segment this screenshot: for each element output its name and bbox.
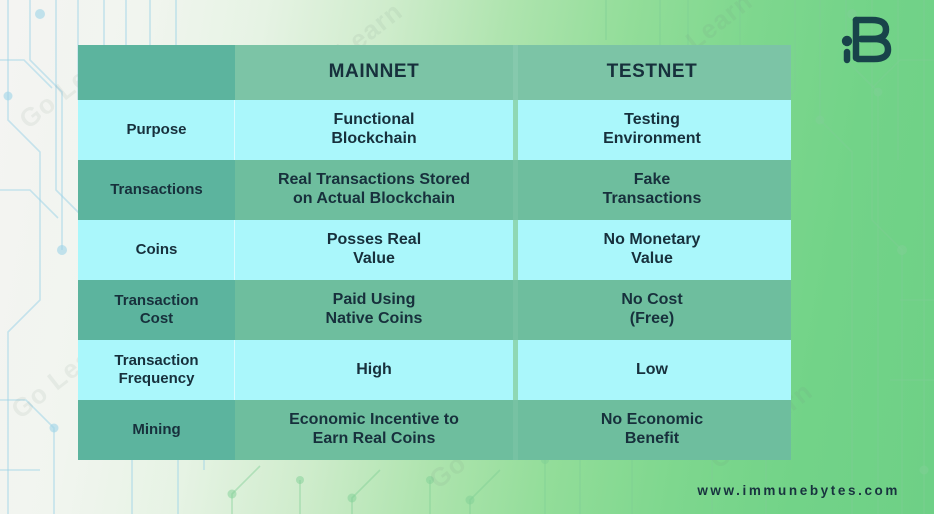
row-label-transaction-cost: Transaction Cost	[78, 280, 235, 340]
cell-line-1: Testing	[513, 111, 791, 130]
cell-line-2: Benefit	[513, 430, 791, 449]
cell-line-1: Fake	[513, 171, 791, 190]
header-mainnet: MAINNET	[235, 45, 513, 100]
cell-mainnet-transaction-cost: Paid Using Native Coins	[235, 280, 513, 340]
cell-line-2: Value	[235, 250, 513, 269]
cell-line-2: Transactions	[513, 190, 791, 209]
table-row: Transaction Cost Paid Using Native Coins…	[78, 280, 791, 340]
label-line-1: Transaction	[78, 292, 235, 310]
cell-line-2: Blockchain	[235, 130, 513, 149]
table-row: Purpose Functional Blockchain Testing En…	[78, 100, 791, 160]
cell-testnet-transaction-frequency: Low	[513, 340, 791, 400]
cell-line-1: High	[235, 361, 513, 380]
cell-line-2: Native Coins	[235, 310, 513, 329]
ib-monogram-logo	[836, 8, 898, 64]
label-line-1: Transaction	[78, 352, 235, 370]
table-row: Coins Posses Real Value No Monetary Valu…	[78, 220, 791, 280]
label-line-2: Frequency	[78, 370, 235, 388]
cell-line-1: No Monetary	[513, 231, 791, 250]
cell-line-1: No Economic	[513, 411, 791, 430]
cell-mainnet-coins: Posses Real Value	[235, 220, 513, 280]
cell-testnet-mining: No Economic Benefit	[513, 400, 791, 460]
row-label-mining: Mining	[78, 400, 235, 460]
header-blank-cell	[78, 45, 235, 100]
cell-line-2: on Actual Blockchain	[235, 190, 513, 209]
comparison-table: MAINNET TESTNET Purpose Functional Block…	[78, 45, 791, 460]
footer-website-url: www.immunebytes.com	[697, 483, 900, 498]
cell-line-2: (Free)	[513, 310, 791, 329]
cell-testnet-transactions: Fake Transactions	[513, 160, 791, 220]
label-line-2: Cost	[78, 310, 235, 328]
cell-line-2: Value	[513, 250, 791, 269]
table-header-row: MAINNET TESTNET	[78, 45, 791, 100]
cell-line-1: Economic Incentive to	[235, 411, 513, 430]
cell-mainnet-transaction-frequency: High	[235, 340, 513, 400]
row-label-purpose: Purpose	[78, 100, 235, 160]
cell-line-1: Low	[513, 361, 791, 380]
cell-testnet-coins: No Monetary Value	[513, 220, 791, 280]
table-row: Transaction Frequency High Low	[78, 340, 791, 400]
table-row: Transactions Real Transactions Stored on…	[78, 160, 791, 220]
cell-line-1: Real Transactions Stored	[235, 171, 513, 190]
cell-line-1: No Cost	[513, 291, 791, 310]
cell-line-1: Functional	[235, 111, 513, 130]
cell-mainnet-purpose: Functional Blockchain	[235, 100, 513, 160]
row-label-coins: Coins	[78, 220, 235, 280]
table-row: Mining Economic Incentive to Earn Real C…	[78, 400, 791, 460]
cell-testnet-transaction-cost: No Cost (Free)	[513, 280, 791, 340]
cell-mainnet-transactions: Real Transactions Stored on Actual Block…	[235, 160, 513, 220]
row-label-transaction-frequency: Transaction Frequency	[78, 340, 235, 400]
cell-mainnet-mining: Economic Incentive to Earn Real Coins	[235, 400, 513, 460]
header-testnet: TESTNET	[513, 45, 791, 100]
cell-line-1: Posses Real	[235, 231, 513, 250]
cell-line-2: Earn Real Coins	[235, 430, 513, 449]
cell-line-2: Environment	[513, 130, 791, 149]
row-label-transactions: Transactions	[78, 160, 235, 220]
cell-testnet-purpose: Testing Environment	[513, 100, 791, 160]
cell-line-1: Paid Using	[235, 291, 513, 310]
